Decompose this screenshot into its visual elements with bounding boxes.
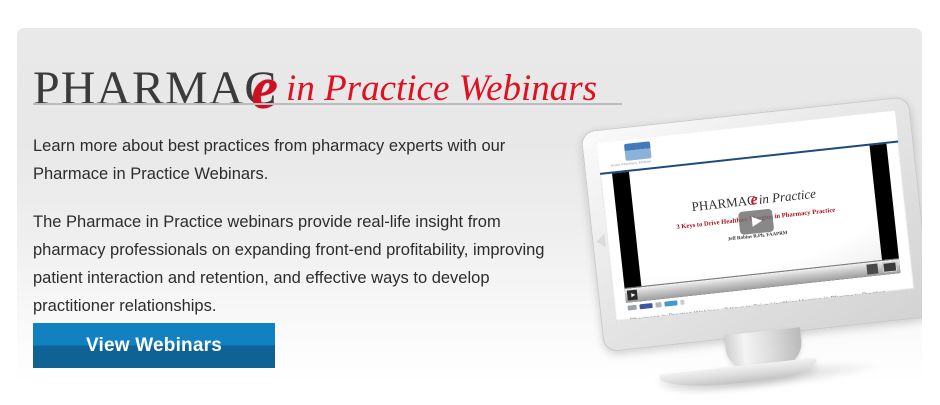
carousel-prev-arrow-icon[interactable] xyxy=(596,234,606,249)
play-icon[interactable] xyxy=(627,290,638,301)
promo-paragraph-2: The Pharmace in Practice webinars provid… xyxy=(33,208,553,320)
monitor-bezel: Home Pharmace Webinar PHARMACein Practic… xyxy=(580,96,922,352)
promo-paragraph-1: Learn more about best practices from pha… xyxy=(33,132,553,188)
share-button-print[interactable] xyxy=(627,305,636,311)
pharmace-logo: PHARMACein Practice Webinars xyxy=(33,44,653,116)
breadcrumb[interactable]: Home Pharmace Webinar xyxy=(611,159,652,167)
site-logo-icon xyxy=(624,141,652,161)
share-button-facebook-like[interactable] xyxy=(639,303,652,309)
webinar-promo-banner: PHARMACein Practice Webinars Learn more … xyxy=(17,28,922,405)
logo-script-e: e xyxy=(251,55,278,121)
promo-copy: Learn more about best practices from pha… xyxy=(33,132,553,340)
share-button-google-plus[interactable] xyxy=(655,302,662,308)
slide-title-tail: in Practice xyxy=(758,186,817,207)
volume-icon[interactable] xyxy=(866,263,878,274)
monitor-screen: Home Pharmace Webinar PHARMACein Practic… xyxy=(597,111,915,321)
share-button-share-count[interactable] xyxy=(680,300,685,305)
view-webinars-button[interactable]: View Webinars xyxy=(33,323,275,368)
desktop-monitor-illustration: Home Pharmace Webinar PHARMACein Practic… xyxy=(580,94,922,405)
header-divider xyxy=(33,103,622,105)
play-button-overlay-icon[interactable] xyxy=(738,209,774,236)
share-button-twitter-tweet[interactable] xyxy=(664,300,677,306)
fullscreen-icon[interactable] xyxy=(882,261,897,272)
logo-wordmark: PHARMAC xyxy=(33,62,277,115)
